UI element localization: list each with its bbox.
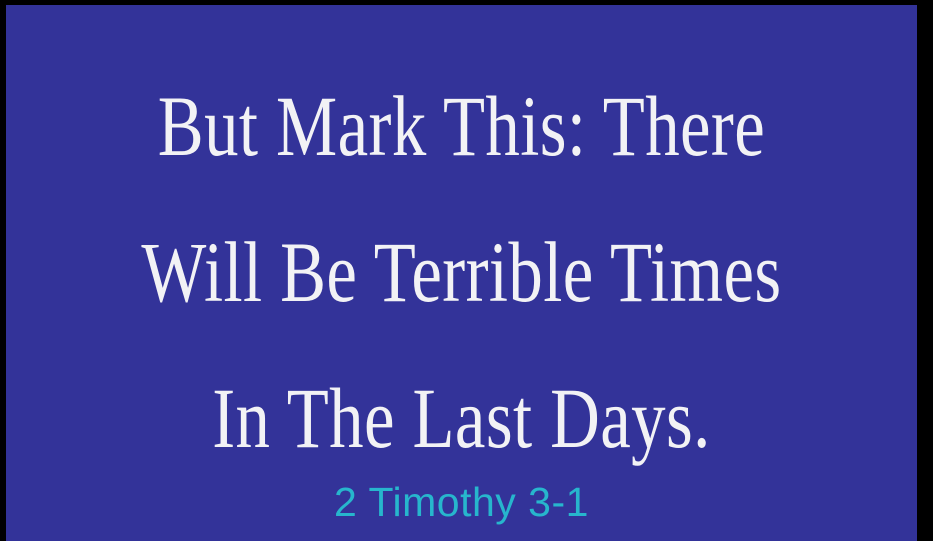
- scripture-quote-poster: But Mark This: There Will Be Terrible Ti…: [0, 0, 933, 541]
- quote-line-1: But Mark This: There: [97, 53, 826, 199]
- quote-line-2: Will Be Terrible Times: [97, 199, 826, 345]
- quote-block: But Mark This: There Will Be Terrible Ti…: [6, 53, 917, 491]
- poster-background-panel: But Mark This: There Will Be Terrible Ti…: [6, 5, 917, 541]
- quote-line-3: In The Last Days.: [97, 345, 826, 491]
- scripture-citation: 2 Timothy 3-1: [6, 479, 917, 525]
